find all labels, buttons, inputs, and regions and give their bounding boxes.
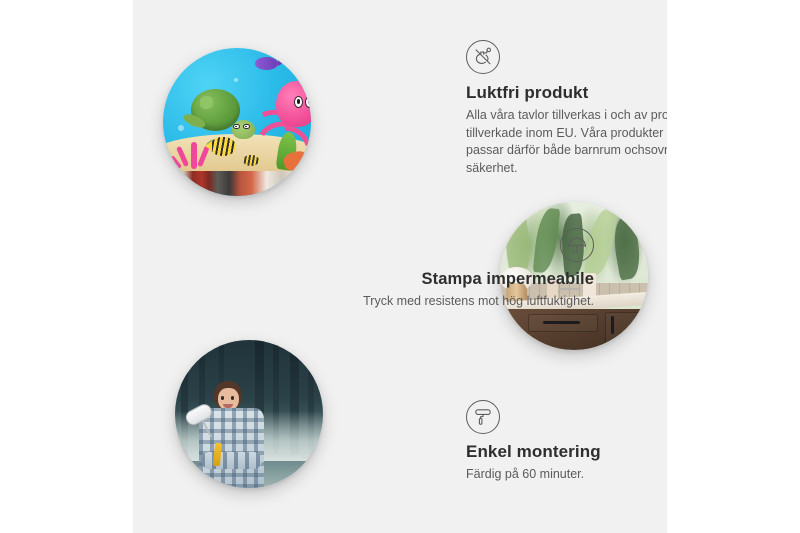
umbrella-icon — [560, 228, 594, 262]
content-panel: Luktfri produkt Alla våra tavlor tillver… — [133, 0, 667, 533]
striped-fish-icon — [210, 137, 235, 156]
wooden-vanity — [500, 309, 648, 350]
feature-title: Luktfri produkt — [466, 83, 667, 103]
feature-odourless: Luktfri produkt Alla våra tavlor tillver… — [466, 40, 667, 177]
feature-title: Stampa impermeabile — [338, 270, 594, 289]
feature-description: Färdig på 60 minuter. — [466, 466, 667, 484]
page-root: Luktfri produkt Alla våra tavlor tillver… — [0, 0, 800, 533]
no-scent-perfume-bottle-icon — [466, 40, 500, 74]
room-photo-strip — [163, 171, 311, 196]
feature-title: Enkel montering — [466, 442, 667, 462]
feature-assembly: Enkel montering Färdig på 60 minuter. — [466, 400, 667, 484]
paint-roller-icon — [466, 400, 500, 434]
image-ocean-mural — [163, 48, 311, 196]
feature-description: Tryck med resistens mot hög luftfuktighe… — [338, 293, 594, 311]
feature-waterproof: Stampa impermeabile Tryck med resistens … — [338, 228, 594, 311]
image-painter-woman — [175, 340, 323, 488]
feature-description: Alla våra tavlor tillverkas i och av pro… — [466, 107, 667, 177]
woman-figure — [193, 381, 276, 488]
